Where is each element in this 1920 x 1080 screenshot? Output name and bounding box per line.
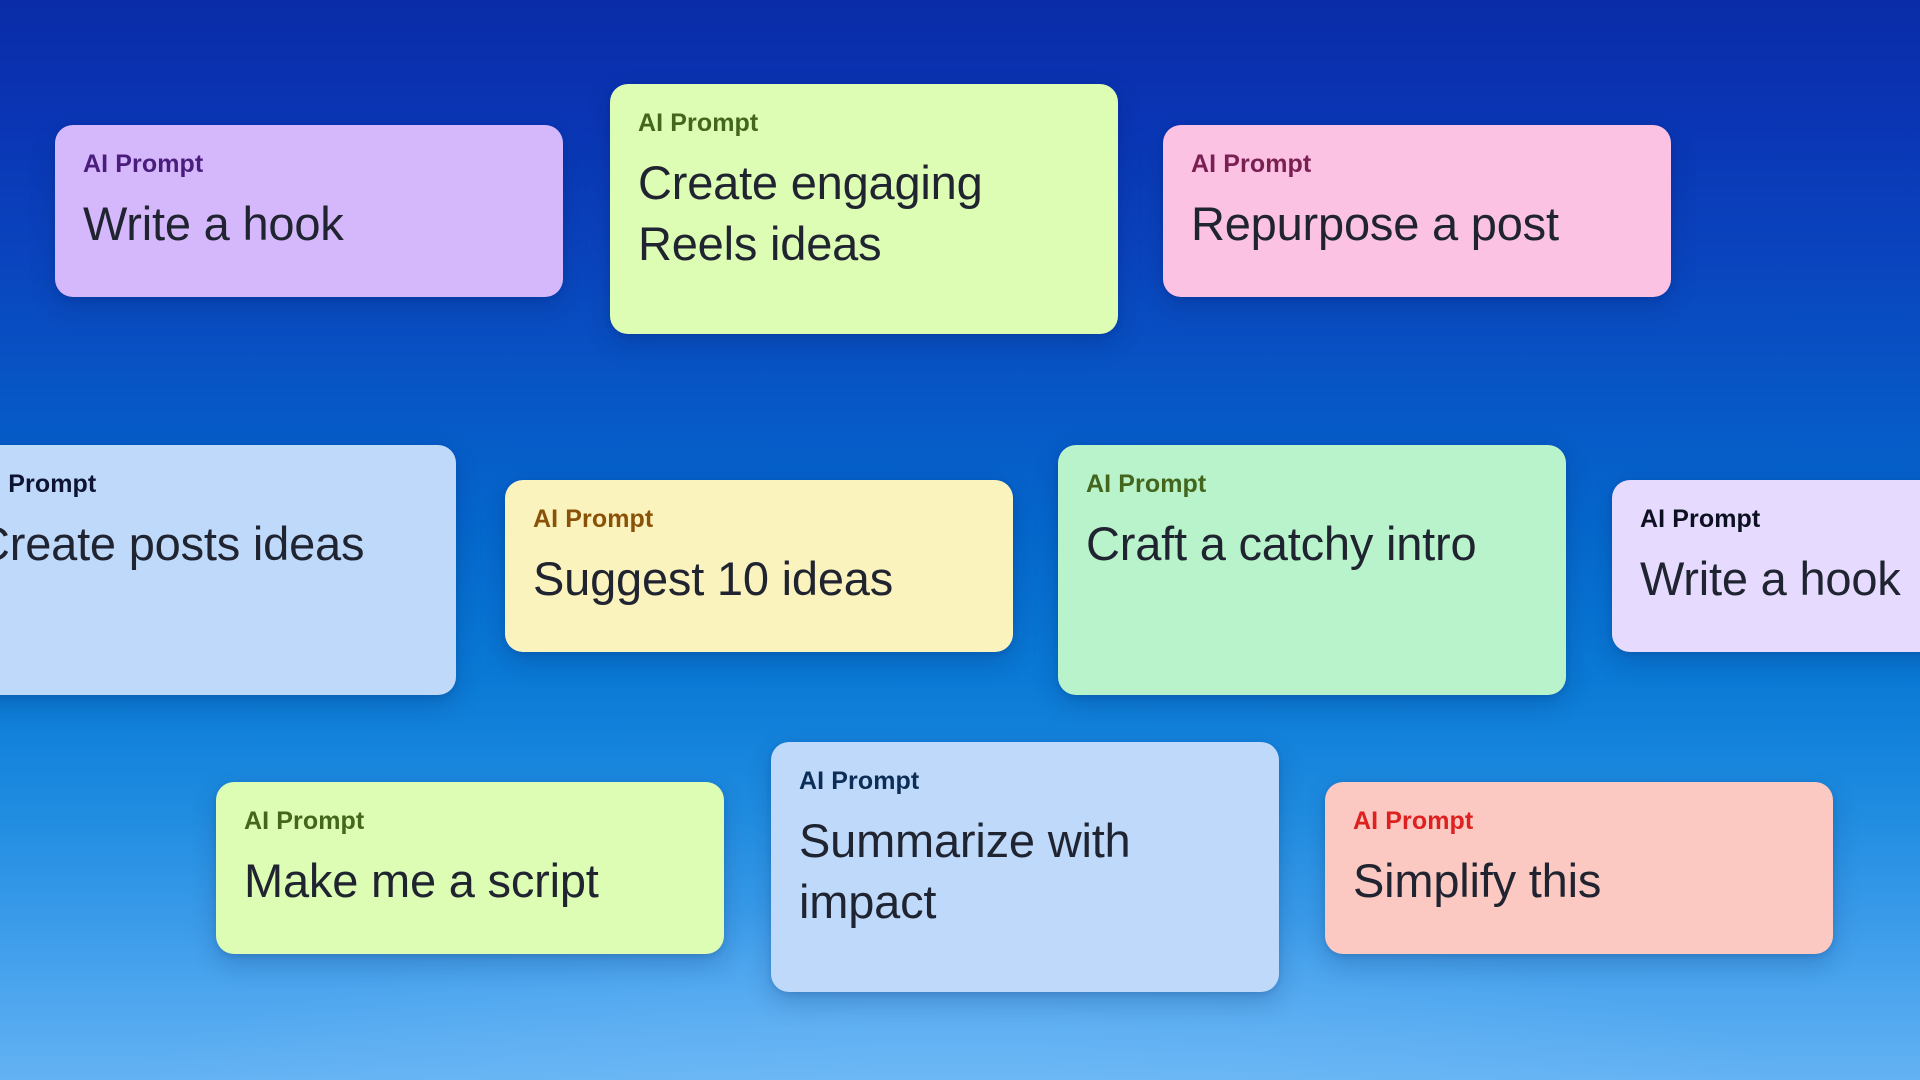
prompt-card-create-engaging-reels-ideas[interactable]: AI PromptCreate engaging Reels ideas xyxy=(610,84,1118,334)
prompt-card-label: AI Prompt xyxy=(0,471,428,499)
prompt-card-label: AI Prompt xyxy=(83,151,535,179)
prompt-card-text: Craft a catchy intro xyxy=(1086,513,1538,574)
prompt-card-label: AI Prompt xyxy=(533,506,985,534)
prompt-card-label: AI Prompt xyxy=(799,768,1251,796)
prompt-card-board: AI PromptWrite a hookAI PromptCreate eng… xyxy=(0,0,1920,1080)
prompt-card-make-me-a-script[interactable]: AI PromptMake me a script xyxy=(216,782,724,954)
prompt-card-label: AI Prompt xyxy=(1086,471,1538,499)
prompt-card-label: AI Prompt xyxy=(1640,506,1920,534)
prompt-card-label: AI Prompt xyxy=(1353,808,1805,836)
prompt-card-label: AI Prompt xyxy=(244,808,696,836)
prompt-card-suggest-10-ideas[interactable]: AI PromptSuggest 10 ideas xyxy=(505,480,1013,652)
prompt-card-summarize-with-impact[interactable]: AI PromptSummarize with impact xyxy=(771,742,1279,992)
prompt-card-text: Make me a script xyxy=(244,850,696,911)
prompt-card-text: Summarize with impact xyxy=(799,810,1251,932)
prompt-card-label: AI Prompt xyxy=(638,110,1090,138)
prompt-card-text: Create engaging Reels ideas xyxy=(638,152,1090,274)
prompt-card-text: Simplify this xyxy=(1353,850,1805,911)
prompt-card-create-posts-ideas[interactable]: AI PromptCreate posts ideas xyxy=(0,445,456,695)
prompt-card-craft-a-catchy-intro[interactable]: AI PromptCraft a catchy intro xyxy=(1058,445,1566,695)
prompt-card-text: Suggest 10 ideas xyxy=(533,548,985,609)
prompt-card-text: Write a hook xyxy=(1640,548,1920,609)
prompt-card-text: Repurpose a post xyxy=(1191,193,1643,254)
prompt-card-write-a-hook[interactable]: AI PromptWrite a hook xyxy=(55,125,563,297)
prompt-card-repurpose-a-post[interactable]: AI PromptRepurpose a post xyxy=(1163,125,1671,297)
prompt-card-label: AI Prompt xyxy=(1191,151,1643,179)
prompt-card-text: Create posts ideas xyxy=(0,513,428,574)
prompt-card-write-a-hook-right[interactable]: AI PromptWrite a hook xyxy=(1612,480,1920,652)
prompt-card-text: Write a hook xyxy=(83,193,535,254)
prompt-card-simplify-this[interactable]: AI PromptSimplify this xyxy=(1325,782,1833,954)
